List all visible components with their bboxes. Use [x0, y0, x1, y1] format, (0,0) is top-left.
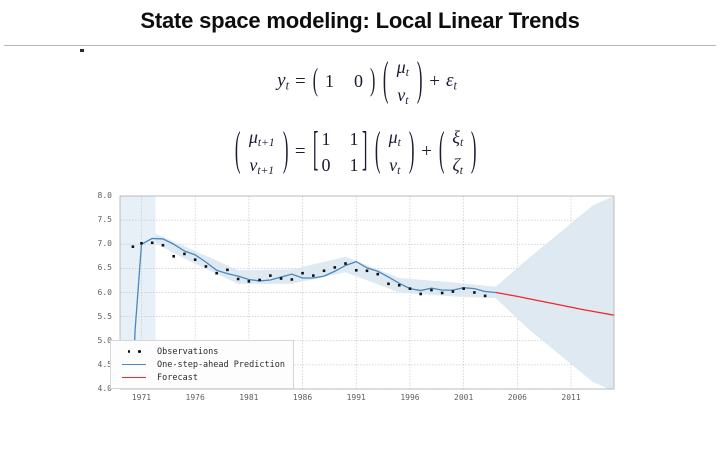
paren-close-icon: )	[470, 128, 478, 176]
paren-close-icon: )	[281, 128, 289, 176]
chart-legend: ObservationsOne-step-ahead PredictionFor…	[110, 340, 294, 389]
legend-line-icon	[117, 377, 151, 379]
x-tick-label: 1971	[121, 393, 161, 402]
forecast-chart: 8.07.57.06.56.05.55.04.54.0 197119761981…	[98, 192, 618, 407]
page-title: State space modeling: Local Linear Trend…	[0, 8, 720, 34]
y-tick-label: 4.0	[88, 384, 112, 393]
paren-open-icon: (	[382, 58, 390, 106]
eq2-state-mu: μt	[389, 124, 401, 152]
eq2-state-vector: ( μt νt )	[374, 124, 415, 180]
eq1-lhs: yt	[277, 70, 289, 93]
eq1-row-vector: ( 1 0 )	[312, 71, 377, 92]
x-tick-label: 2001	[444, 393, 484, 402]
y-tick-label: 6.5	[88, 263, 112, 272]
x-tick-label: 1996	[390, 393, 430, 402]
paren-open-icon: (	[312, 66, 319, 98]
equation-block: yt = ( 1 0 ) ( μt νt ) + εt	[0, 54, 720, 180]
y-tick-label: 4.5	[88, 360, 112, 369]
y-tick-label: 7.5	[88, 215, 112, 224]
eq2-m01: 1	[349, 126, 359, 152]
y-tick-label: 8.0	[88, 191, 112, 200]
eq2-noise-xi: ξt	[452, 124, 463, 152]
eq2-noise-vector: ( ξt ζt )	[438, 124, 478, 180]
eq1-rowvec-1: 0	[354, 71, 363, 92]
x-tick-label: 2011	[551, 393, 591, 402]
legend-item[interactable]: Forecast	[117, 371, 285, 384]
paren-close-icon: )	[369, 66, 376, 98]
slide-root: State space modeling: Local Linear Trend…	[0, 0, 720, 450]
eq2-state-nu: νt	[389, 152, 400, 180]
line-icon	[122, 364, 146, 366]
dot-icon	[128, 350, 131, 353]
legend-label: One-step-ahead Prediction	[157, 360, 285, 370]
equation-observation: yt = ( 1 0 ) ( μt νt ) + εt	[14, 54, 720, 110]
legend-label: Forecast	[157, 373, 198, 383]
eq1-plus: +	[429, 71, 440, 93]
paren-open-icon: (	[234, 128, 242, 176]
eq2-lhs-mu: μt+1	[249, 124, 275, 152]
x-tick-label: 1991	[336, 393, 376, 402]
eq1-rowvec-0: 1	[325, 71, 334, 92]
eq1-state-vector: ( μt νt )	[382, 54, 423, 110]
legend-line-icon	[117, 364, 151, 366]
eq2-m10: 0	[321, 152, 331, 178]
x-tick-label: 1986	[283, 393, 323, 402]
bracket-open-icon: [	[311, 128, 319, 176]
eq1-equals: =	[295, 71, 306, 93]
eq2-noise-zeta: ζt	[452, 152, 463, 180]
legend-label: Observations	[157, 347, 218, 357]
eq2-equals: =	[295, 141, 306, 163]
x-tick-label: 2006	[497, 393, 537, 402]
legend-item[interactable]: One-step-ahead Prediction	[117, 358, 285, 371]
legend-dots-icon	[117, 350, 151, 353]
paren-close-icon: )	[416, 58, 424, 106]
title-divider	[4, 45, 716, 46]
bracket-close-icon: ]	[361, 128, 369, 176]
y-tick-label: 6.0	[88, 288, 112, 297]
y-tick-label: 5.0	[88, 336, 112, 345]
eq2-m00: 1	[321, 126, 331, 152]
equation-transition: ( μt+1 νt+1 ) = [ 1 1 0 1	[0, 124, 720, 180]
x-tick-label: 1981	[229, 393, 269, 402]
paren-close-icon: )	[408, 128, 416, 176]
y-tick-label: 5.5	[88, 312, 112, 321]
dot-icon	[138, 350, 141, 353]
paren-open-icon: (	[438, 128, 446, 176]
eq2-transition-matrix: [ 1 1 0 1 ]	[312, 126, 369, 178]
eq2-lhs-vector: ( μt+1 νt+1 )	[234, 124, 288, 180]
stray-dash-artifact	[80, 49, 84, 52]
line-icon	[122, 377, 146, 379]
eq2-plus: +	[421, 141, 432, 163]
legend-item[interactable]: Observations	[117, 345, 285, 358]
eq1-state-mu: μt	[397, 54, 409, 82]
eq1-state-nu: νt	[397, 82, 408, 110]
x-tick-label: 1976	[175, 393, 215, 402]
eq2-lhs-nu: νt+1	[249, 152, 274, 180]
eq2-m11: 1	[349, 152, 359, 178]
eq1-noise: εt	[446, 70, 457, 93]
y-tick-label: 7.0	[88, 239, 112, 248]
paren-open-icon: (	[374, 128, 382, 176]
